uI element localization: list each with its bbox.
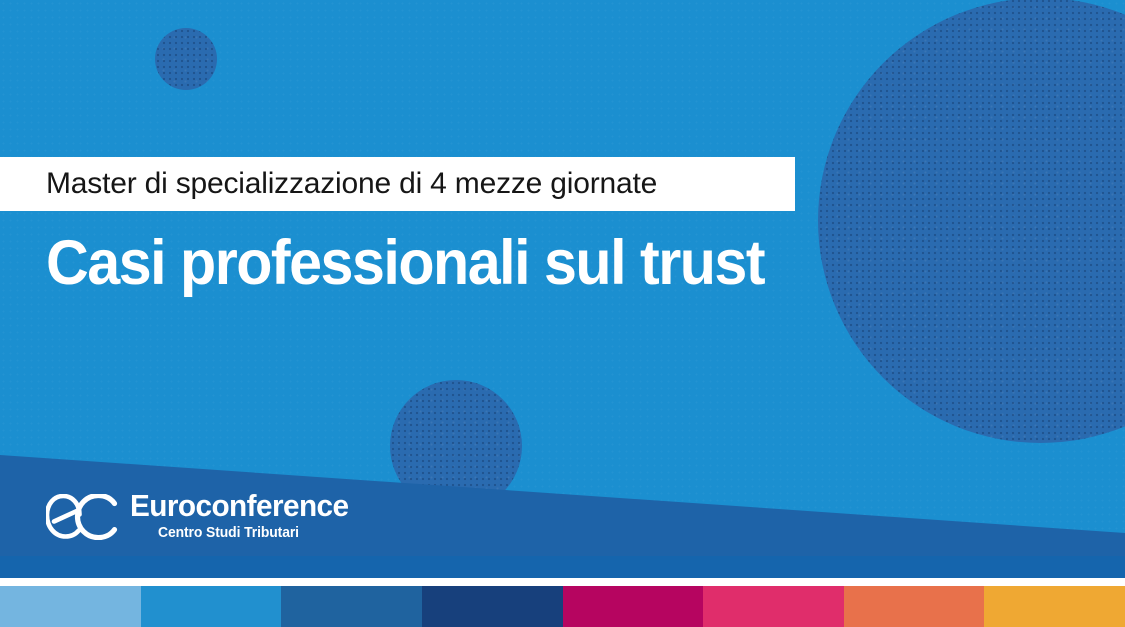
logo-name: Euroconference: [130, 490, 349, 521]
kicker-text: Master di specializzazione di 4 mezze gi…: [46, 167, 657, 201]
color-band-steel-blue: [281, 586, 422, 627]
color-band-orange: [844, 586, 985, 627]
euroconference-logo[interactable]: Euroconference Centro Studi Tributari: [46, 490, 358, 541]
color-stripe: [0, 586, 1125, 627]
color-band-magenta: [563, 586, 704, 627]
page-title: Casi professionali sul trust: [46, 230, 764, 296]
color-band-pink: [703, 586, 844, 627]
logo-tagline: Centro Studi Tributari: [158, 526, 350, 541]
promo-banner: Master di specializzazione di 4 mezze gi…: [0, 0, 1125, 627]
color-band-gold: [984, 586, 1125, 627]
color-band-blue: [141, 586, 282, 627]
color-band-navy: [422, 586, 563, 627]
kicker-box: Master di specializzazione di 4 mezze gi…: [0, 157, 795, 211]
color-band-light-blue: [0, 586, 141, 627]
ec-monogram-icon: [46, 494, 118, 540]
stripe-separator: [0, 578, 1125, 586]
